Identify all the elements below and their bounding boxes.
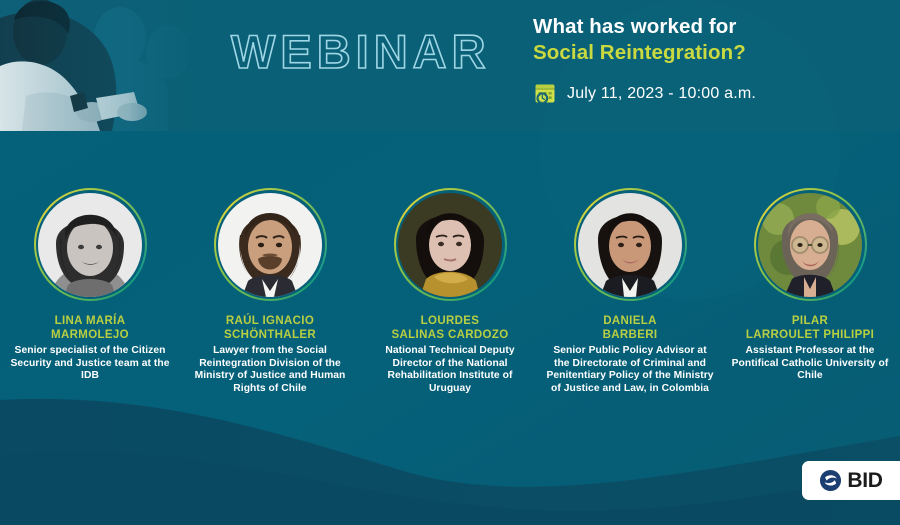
- avatar-ring: [214, 188, 327, 301]
- title-line-1: What has worked for: [533, 14, 893, 40]
- webinar-title: WEBINAR: [231, 23, 491, 81]
- speaker-name-line-1: LOURDES: [421, 315, 480, 327]
- avatar-ring: [34, 188, 147, 301]
- avatar-ring: [574, 188, 687, 301]
- speaker-name-line-1: RAÚL IGNACIO: [226, 315, 314, 327]
- speaker-role: Lawyer from the Social Reintegration Div…: [186, 345, 354, 395]
- avatar: [218, 193, 322, 297]
- speaker-card: DANIELA BARBERI Senior Public Policy Adv…: [540, 188, 720, 395]
- speaker-role: Assistant Professor at the Pontifical Ca…: [726, 345, 894, 383]
- speaker-name-line-1: LINA MARÍA: [55, 315, 126, 327]
- speaker-name: LOURDES SALINAS CARDOZO: [362, 315, 538, 342]
- avatar: [578, 193, 682, 297]
- avatar: [758, 193, 862, 297]
- speaker-card: LINA MARÍA MARMOLEJO Senior specialist o…: [0, 188, 180, 395]
- title-line-2: Social Reintegration?: [533, 40, 893, 66]
- bid-logo-panel: BID: [802, 461, 900, 500]
- avatar-ring: [754, 188, 867, 301]
- speaker-role: National Technical Deputy Director of th…: [366, 345, 534, 395]
- speaker-name-line-2: LARROULET PHILIPPI: [746, 329, 874, 341]
- speaker-name: LINA MARÍA MARMOLEJO: [2, 315, 178, 342]
- speaker-role: Senior Public Policy Advisor at the Dire…: [546, 345, 714, 395]
- avatar: [38, 193, 142, 297]
- bid-logo-text: BID: [847, 469, 882, 493]
- speaker-role: Senior specialist of the Citizen Securit…: [6, 345, 174, 383]
- datetime-row: July 11, 2023 - 10:00 a.m.: [533, 81, 893, 106]
- speaker-name-line-1: PILAR: [792, 315, 828, 327]
- speaker-name: DANIELA BARBERI: [542, 315, 718, 342]
- hero-photo: [0, 0, 205, 131]
- speakers-row: LINA MARÍA MARMOLEJO Senior specialist o…: [0, 188, 900, 395]
- speaker-name-line-2: BARBERI: [603, 329, 658, 341]
- speaker-card: RAÚL IGNACIO SCHÖNTHALER Lawyer from the…: [180, 188, 360, 395]
- speaker-name-line-1: DANIELA: [603, 315, 657, 327]
- avatar-ring: [394, 188, 507, 301]
- speaker-card: PILAR LARROULET PHILIPPI Assistant Profe…: [720, 188, 900, 395]
- datetime-label: July 11, 2023 - 10:00 a.m.: [567, 85, 756, 103]
- header-text-block: What has worked for Social Reintegration…: [533, 14, 893, 106]
- header-band: WEBINAR What has worked for Social Reint…: [0, 0, 900, 131]
- speaker-card: LOURDES SALINAS CARDOZO National Technic…: [360, 188, 540, 395]
- speaker-name-line-2: SALINAS CARDOZO: [391, 329, 508, 341]
- avatar: [398, 193, 502, 297]
- speaker-name: RAÚL IGNACIO SCHÖNTHALER: [182, 315, 358, 342]
- speaker-name: PILAR LARROULET PHILIPPI: [722, 315, 898, 342]
- bid-leaf-logo-icon: [819, 469, 842, 492]
- speaker-name-line-2: MARMOLEJO: [51, 329, 129, 341]
- speaker-name-line-2: SCHÖNTHALER: [224, 329, 316, 341]
- calendar-clock-icon: [533, 81, 558, 106]
